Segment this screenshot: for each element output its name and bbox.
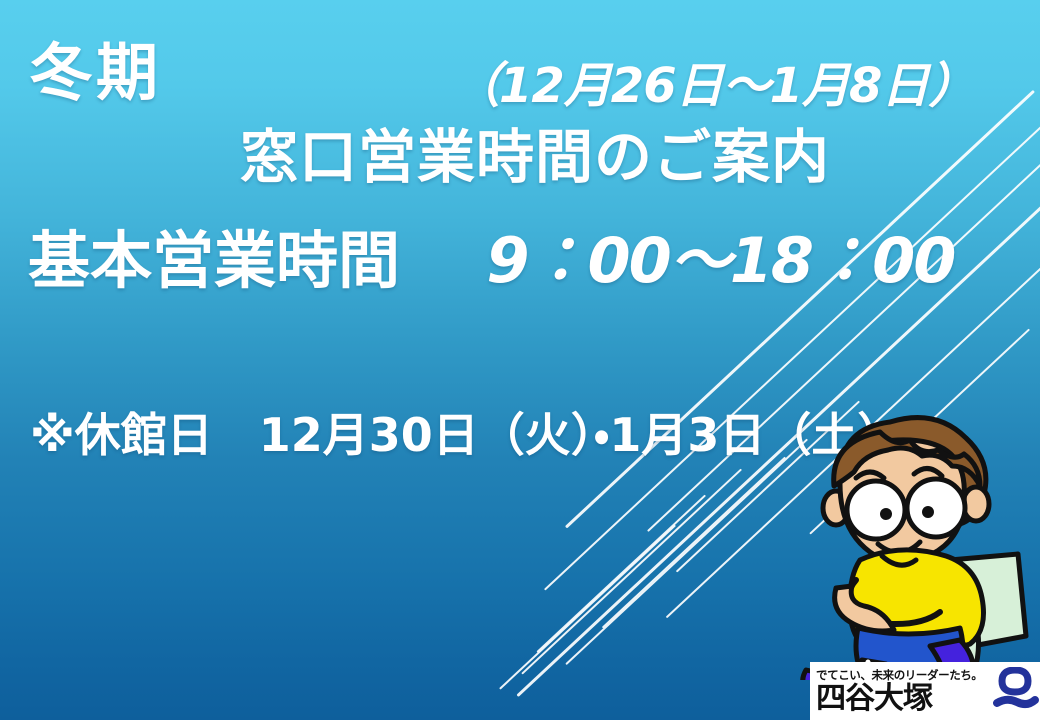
brand-tagline: でてこい、未来のリーダーたち。	[816, 670, 983, 682]
period-heading: （12月26日〜1月8日）	[452, 62, 975, 110]
closed-days-line: ※休館日 12月30日（火）・1月3日（土）	[30, 412, 903, 458]
brand-name: 四谷大塚	[816, 684, 983, 714]
brand-logo-row: でてこい、未来のリーダーたち。 四谷大塚	[816, 667, 1040, 717]
running-boy-mascot	[800, 412, 1040, 680]
business-hours-line: 基本営業時間 9：00〜18：00	[28, 230, 954, 292]
business-hours-label: 基本営業時間	[28, 224, 400, 297]
season-heading: 冬期	[30, 42, 162, 104]
brand-logo: でてこい、未来のリーダーたち。 四谷大塚	[810, 662, 1040, 720]
person-mark-icon	[989, 667, 1039, 717]
subject-heading: 窓口営業時間のご案内	[240, 128, 830, 186]
brand-logo-text-group: でてこい、未来のリーダーたち。 四谷大塚	[816, 670, 983, 715]
winter-hours-poster: 冬期 （12月26日〜1月8日） 窓口営業時間のご案内 基本営業時間 9：00〜…	[0, 0, 1040, 720]
business-hours-value: 9：00〜18：00	[486, 224, 954, 297]
